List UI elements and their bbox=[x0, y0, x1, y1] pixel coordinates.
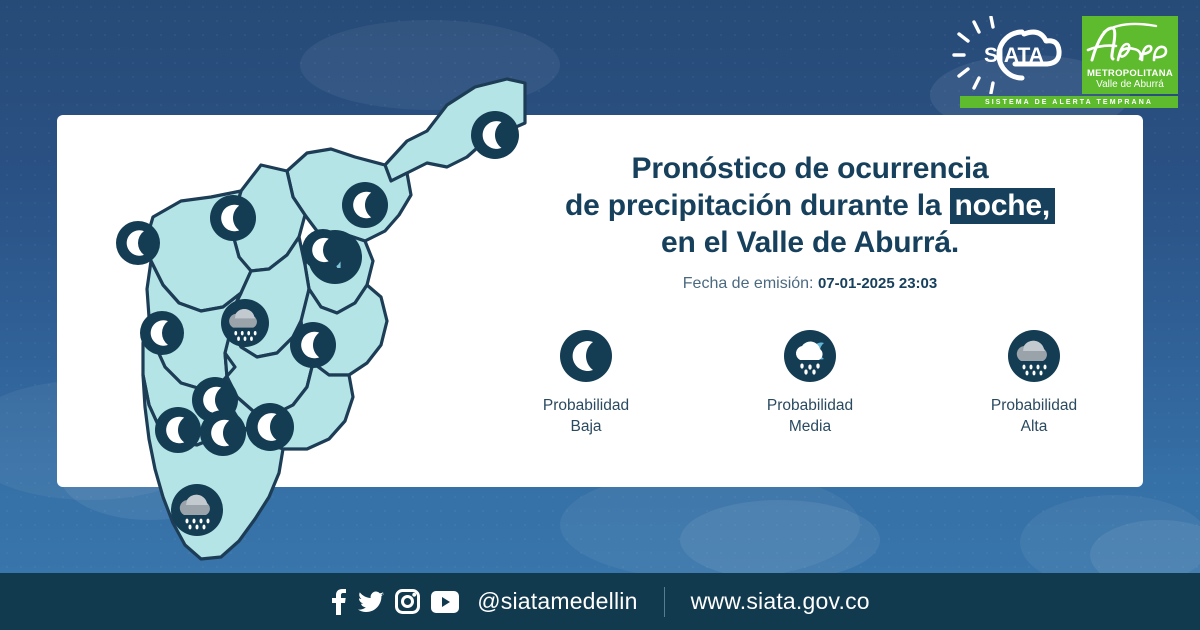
map-marker-girardota bbox=[342, 182, 388, 228]
headline-panel: Pronóstico de ocurrencia de precipitació… bbox=[500, 150, 1120, 293]
legend-baja-line1: Probabilidad bbox=[543, 395, 629, 416]
map-marker-copacabana bbox=[302, 229, 344, 271]
map-marker-caldas bbox=[171, 484, 223, 536]
title-line-2: de precipitación durante la noche, bbox=[500, 187, 1120, 224]
area-script-icon bbox=[1082, 20, 1178, 66]
title-line-2-text: de precipitación durante la bbox=[565, 189, 941, 222]
emission-value: 07-01-2025 23:03 bbox=[818, 275, 937, 292]
facebook-icon[interactable] bbox=[330, 589, 347, 615]
legend-alta-line1: Probabilidad bbox=[991, 395, 1077, 416]
legend-label-alta: Probabilidad Alta bbox=[991, 395, 1077, 437]
emission-label: Fecha de emisión: bbox=[683, 275, 814, 292]
legend-item-baja: Probabilidad Baja bbox=[516, 330, 656, 437]
social-icons bbox=[330, 589, 459, 615]
area-logo-line2: Valle de Aburrá bbox=[1096, 79, 1164, 90]
instagram-icon[interactable] bbox=[395, 589, 420, 614]
legend-label-baja: Probabilidad Baja bbox=[543, 395, 629, 437]
legend-baja-line2: Baja bbox=[543, 416, 629, 437]
legend-label-media: Probabilidad Media bbox=[767, 395, 853, 437]
map-marker-itagui bbox=[155, 407, 201, 453]
map-marker-san-jeronimo bbox=[140, 311, 184, 355]
cloud-moon-rain-icon bbox=[784, 330, 836, 382]
cloud-shape bbox=[680, 500, 880, 580]
legend: Probabilidad Baja Probabilidad Media bbox=[500, 330, 1120, 437]
youtube-icon[interactable] bbox=[431, 591, 459, 613]
social-handle[interactable]: @siatamedellin bbox=[477, 588, 637, 615]
svg-text:SIATA: SIATA bbox=[984, 44, 1044, 67]
map-polygons bbox=[55, 45, 525, 565]
title-line-1: Pronóstico de ocurrencia bbox=[500, 150, 1120, 187]
legend-media-line1: Probabilidad bbox=[767, 395, 853, 416]
map-marker-bello bbox=[221, 299, 269, 347]
tagline-text: SISTEMA DE ALERTA TEMPRANA bbox=[985, 99, 1153, 106]
map-marker-belmira bbox=[116, 221, 160, 265]
area-logo-line1: METROPOLITANA bbox=[1087, 68, 1173, 79]
map-marker-sabaneta bbox=[200, 410, 246, 456]
tagline-bar: SISTEMA DE ALERTA TEMPRANA bbox=[960, 96, 1178, 108]
footer-bar: @siatamedellin www.siata.gov.co bbox=[0, 573, 1200, 630]
legend-media-line2: Media bbox=[767, 416, 853, 437]
valle-de-aburra-map: N bbox=[55, 45, 525, 565]
map-marker-envigado bbox=[246, 403, 294, 451]
siata-logo: SIATA bbox=[952, 16, 1074, 94]
title-line-3: en el Valle de Aburrá. bbox=[500, 224, 1120, 261]
twitter-icon[interactable] bbox=[358, 589, 384, 615]
moon-icon bbox=[560, 330, 612, 382]
website-url[interactable]: www.siata.gov.co bbox=[691, 588, 870, 615]
cloud-heavy-rain-icon bbox=[1008, 330, 1060, 382]
legend-alta-line2: Alta bbox=[991, 416, 1077, 437]
emission-date: Fecha de emisión: 07-01-2025 23:03 bbox=[500, 275, 1120, 293]
page-title: Pronóstico de ocurrencia de precipitació… bbox=[500, 150, 1120, 261]
map-marker-san-pedro bbox=[210, 195, 256, 241]
title-highlight: noche, bbox=[950, 188, 1055, 224]
footer-divider bbox=[664, 587, 665, 617]
logo-group: SIATA METROPOLITANA Valle de Aburrá bbox=[952, 16, 1178, 94]
area-metropolitana-logo: METROPOLITANA Valle de Aburrá bbox=[1082, 16, 1178, 94]
map-marker-guarne bbox=[290, 322, 336, 368]
legend-item-alta: Probabilidad Alta bbox=[964, 330, 1104, 437]
legend-item-media: Probabilidad Media bbox=[740, 330, 880, 437]
